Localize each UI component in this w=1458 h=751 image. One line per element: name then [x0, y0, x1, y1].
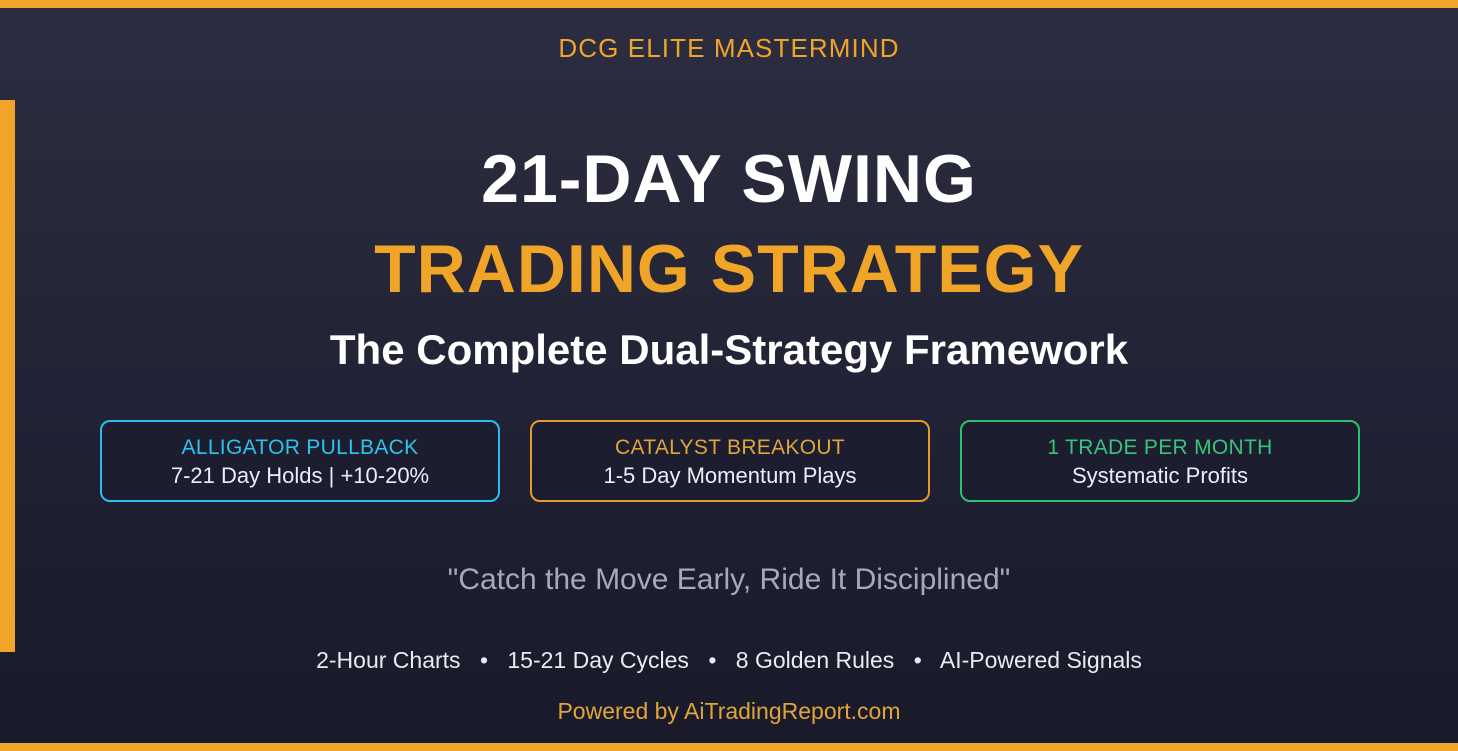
- feature-strip: 2-Hour Charts • 15-21 Day Cycles • 8 Gol…: [0, 644, 1458, 676]
- strategy-card-title: ALLIGATOR PULLBACK: [182, 434, 419, 461]
- footer-attribution: Powered by AiTradingReport.com: [0, 696, 1458, 727]
- feature-separator-dot: •: [901, 647, 935, 673]
- feature-item: 15-21 Day Cycles: [507, 647, 689, 673]
- feature-item: 8 Golden Rules: [736, 647, 895, 673]
- feature-separator-dot: •: [467, 647, 501, 673]
- bottom-accent-bar: [0, 743, 1458, 751]
- feature-separator-dot: •: [695, 647, 729, 673]
- tagline-quote: "Catch the Move Early, Ride It Disciplin…: [0, 560, 1458, 600]
- strategy-card-title: CATALYST BREAKOUT: [615, 434, 845, 461]
- strategy-card-one-trade-per-month: 1 TRADE PER MONTH Systematic Profits: [960, 420, 1360, 502]
- feature-item: AI-Powered Signals: [940, 647, 1142, 673]
- strategy-card-title: 1 TRADE PER MONTH: [1047, 434, 1272, 461]
- top-accent-bar: [0, 0, 1458, 8]
- strategy-card-alligator-pullback: ALLIGATOR PULLBACK 7-21 Day Holds | +10-…: [100, 420, 500, 502]
- brand-kicker: DCG ELITE MASTERMIND: [0, 33, 1458, 64]
- strategy-card-subtitle: 1-5 Day Momentum Plays: [603, 461, 856, 490]
- headline-line-1: 21-DAY SWING: [0, 140, 1458, 218]
- strategy-card-group: ALLIGATOR PULLBACK 7-21 Day Holds | +10-…: [100, 420, 1360, 502]
- headline-line-2: TRADING STRATEGY: [0, 230, 1458, 308]
- slide-canvas: DCG ELITE MASTERMIND 21-DAY SWING TRADIN…: [0, 0, 1458, 751]
- strategy-card-subtitle: 7-21 Day Holds | +10-20%: [171, 461, 429, 490]
- strategy-card-catalyst-breakout: CATALYST BREAKOUT 1-5 Day Momentum Plays: [530, 420, 930, 502]
- headline-subtitle: The Complete Dual-Strategy Framework: [0, 325, 1458, 375]
- strategy-card-subtitle: Systematic Profits: [1072, 461, 1248, 490]
- feature-item: 2-Hour Charts: [316, 647, 460, 673]
